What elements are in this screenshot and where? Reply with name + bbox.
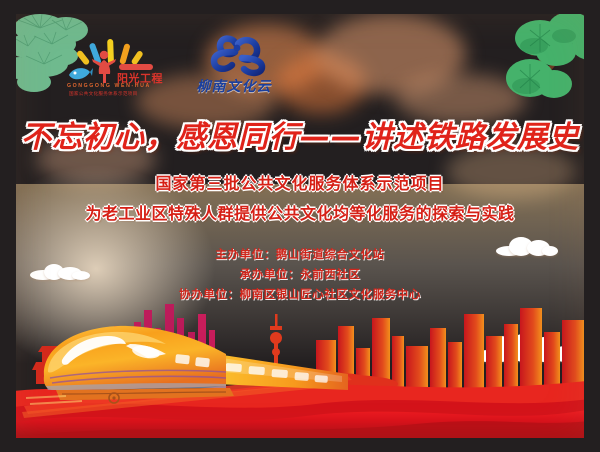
subtitle-line-1: 国家第三批公共文化服务体系示范项目 [16, 170, 584, 194]
poster-frame: 阳光工程 GONGGONG WEN-HUA 国家公共文化服务体系示范项目 [0, 0, 600, 452]
high-speed-train [26, 314, 356, 420]
watercolor-blob [276, 54, 366, 114]
frame-edge-top [0, 0, 600, 14]
frame-edge-left [0, 0, 16, 452]
organizer-line: 承办单位：永前西社区 [16, 264, 584, 284]
cloud-swirl-icon [202, 34, 272, 78]
poster-artwork: 阳光工程 GONGGONG WEN-HUA 国家公共文化服务体系示范项目 [16, 14, 584, 438]
subtitle-line-2: 为老工业区特殊人群提供公共文化均等化服务的探索与实践 [16, 200, 584, 224]
bottom-illustration [16, 288, 584, 438]
sunshine-logo-pinyin: GONGGONG WEN-HUA [67, 83, 151, 89]
fish-icon [67, 64, 93, 84]
logo-bar: 阳光工程 GONGGONG WEN-HUA 国家公共文化服务体系示范项目 [56, 30, 286, 102]
cloud-logo-name: 柳南文化云 [184, 76, 284, 96]
frame-edge-bottom [0, 438, 600, 452]
liunan-culture-cloud-logo: 柳南文化云 [184, 34, 284, 102]
running-figure-icon [91, 50, 117, 84]
tree-branch-decoration [444, 14, 584, 122]
sunshine-project-logo: 阳光工程 GONGGONG WEN-HUA 国家公共文化服务体系示范项目 [61, 38, 173, 98]
page-title: 不忘初心，感恩同行——讲述铁路发展史 [16, 112, 584, 156]
sunshine-logo-subline: 国家公共文化服务体系示范项目 [69, 91, 138, 97]
frame-edge-right [584, 0, 600, 452]
organizer-line: 主办单位：鹅山街道综合文化站 [16, 244, 584, 264]
